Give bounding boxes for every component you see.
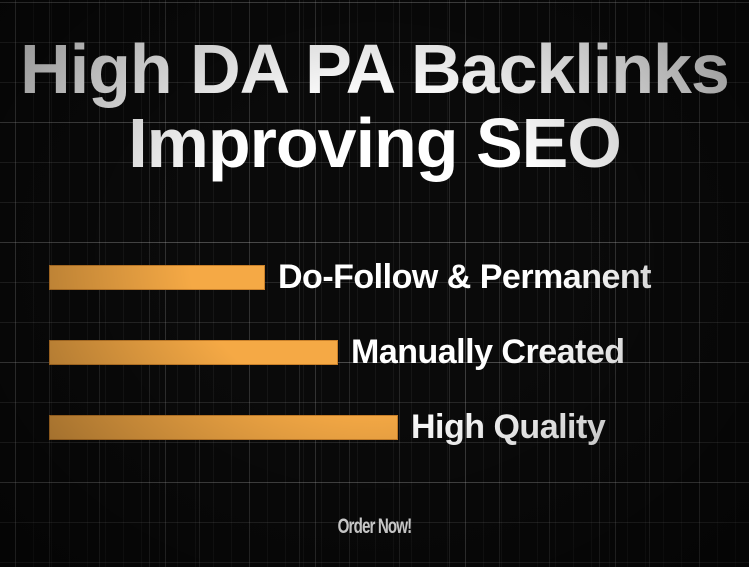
feature-bar-1 [49,265,265,290]
feature-label-2: Manually Created [351,333,625,372]
list-item: Manually Created [0,315,749,390]
page-title-line-2: Improving SEO [0,106,749,180]
poster-canvas: High DA PA Backlinks Improving SEO Do-Fo… [0,0,749,567]
list-item: Do-Follow & Permanent [0,240,749,315]
feature-list: Do-Follow & Permanent Manually Created H… [0,240,749,465]
page-title-line-1: High DA PA Backlinks [0,32,749,106]
feature-label-3: High Quality [411,408,605,447]
order-now-cta[interactable]: Order Now! [105,515,644,539]
page-title: High DA PA Backlinks Improving SEO [0,32,749,180]
feature-bar-2 [49,340,338,365]
list-item: High Quality [0,390,749,465]
feature-bar-3 [49,415,398,440]
feature-label-1: Do-Follow & Permanent [278,258,651,297]
